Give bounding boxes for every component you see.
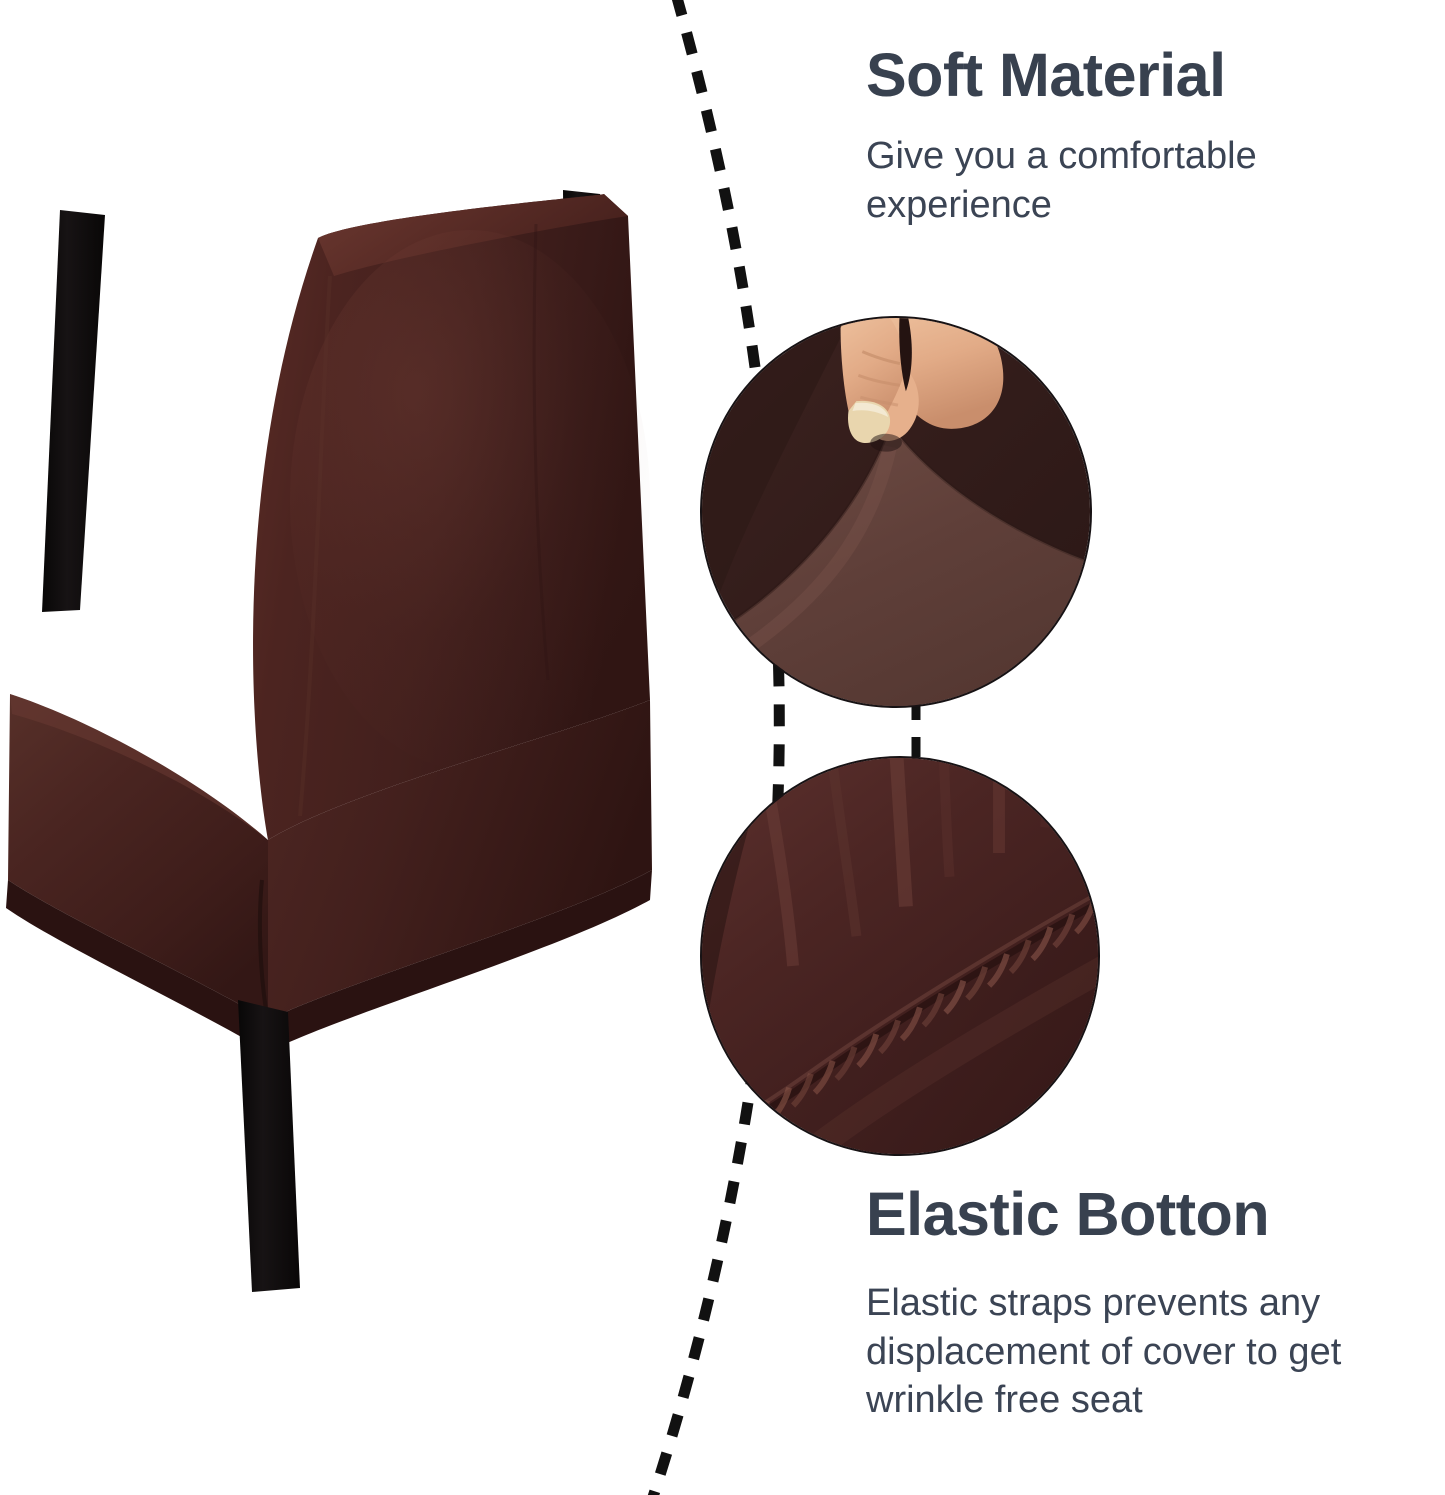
feature-description-soft-material: Give you a comfortable experience (866, 132, 1426, 229)
chair-illustration (0, 180, 660, 1310)
feature-title-elastic-botton: Elastic Botton (866, 1183, 1436, 1245)
feature-description-elastic-botton: Elastic straps prevents any displacement… (866, 1279, 1436, 1425)
chair-leg-front-left (238, 1000, 300, 1292)
infographic-canvas: Soft Material Give you a comfortable exp… (0, 0, 1445, 1495)
hand-stretching-fabric-photo (702, 318, 1090, 706)
chair-product-image (0, 180, 660, 1310)
inset-soft-material (700, 316, 1092, 708)
chair-leg-rear-left (42, 210, 105, 612)
dashed-arc-path (652, 0, 779, 1495)
elastic-hem-photo (702, 758, 1098, 1154)
feature-block-elastic-botton: Elastic Botton Elastic straps prevents a… (866, 1183, 1436, 1425)
inset-elastic-bottom (700, 756, 1100, 1156)
feature-block-soft-material: Soft Material Give you a comfortable exp… (866, 44, 1426, 229)
feature-title-soft-material: Soft Material (866, 44, 1426, 106)
